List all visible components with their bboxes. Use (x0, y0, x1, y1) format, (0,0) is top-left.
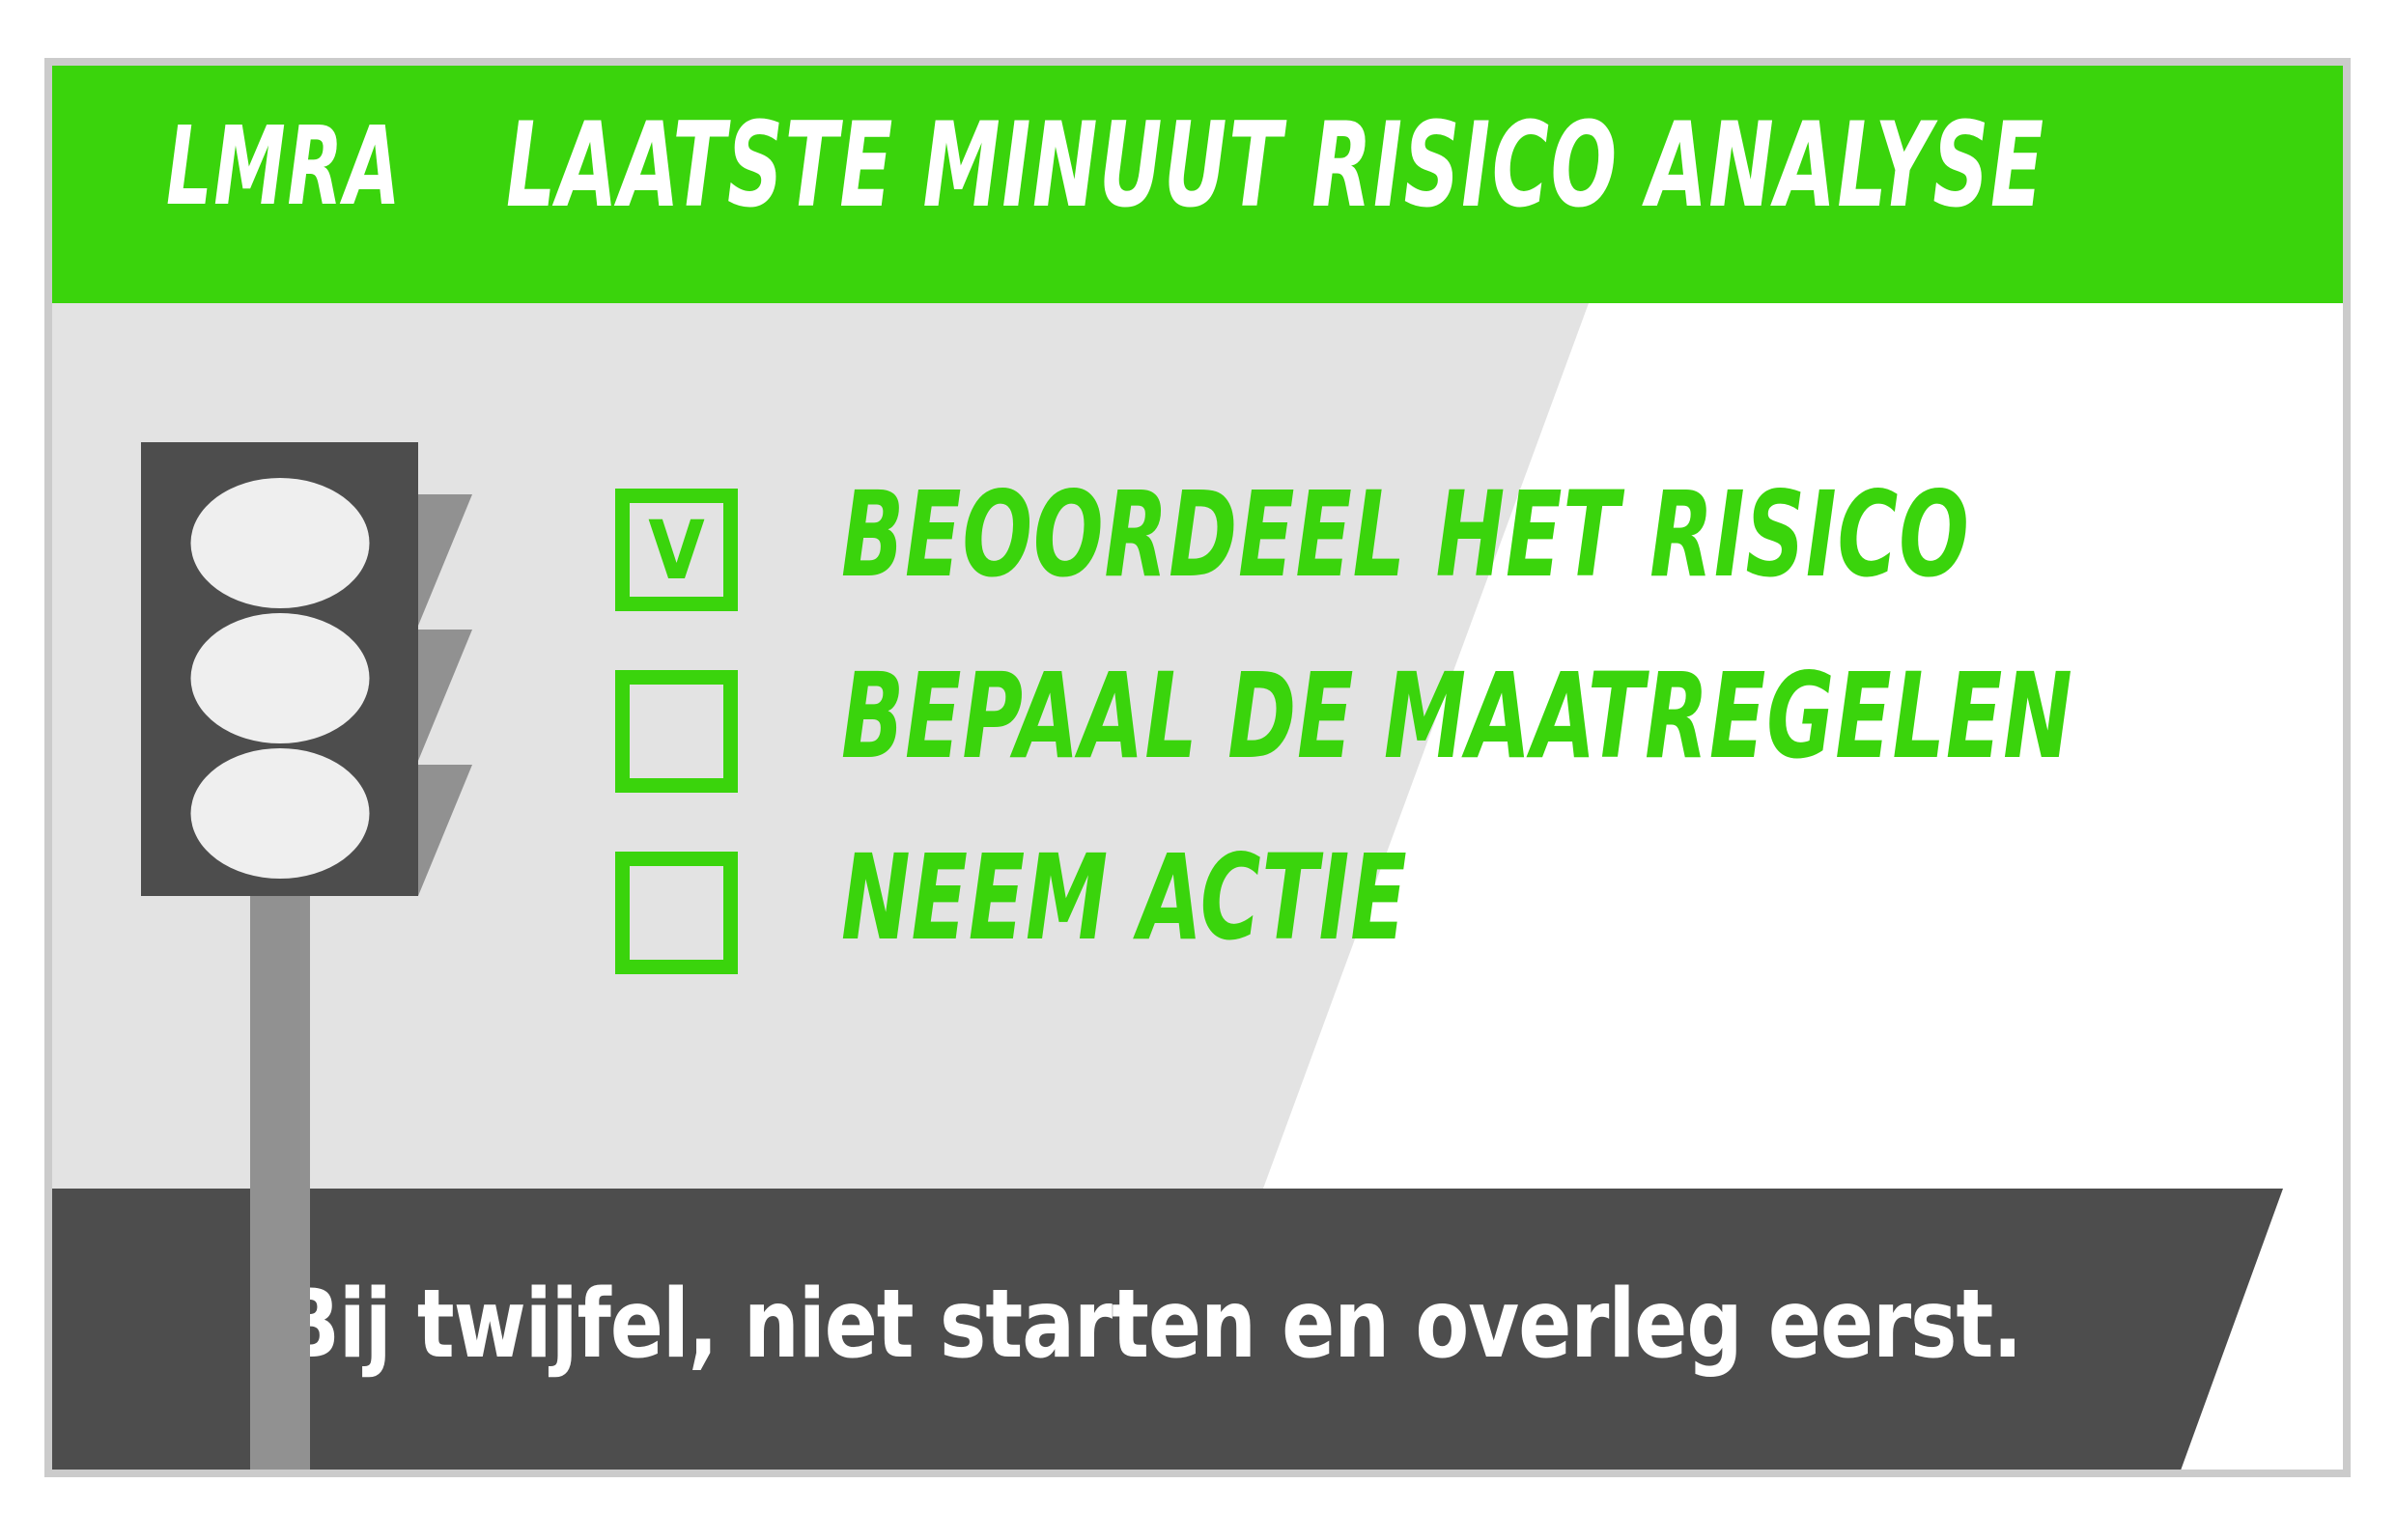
traffic-light-visor-icon (418, 630, 472, 761)
checklist-item-label: BEOORDEEL HET RISICO (841, 477, 1970, 595)
poster-body: V BEOORDEEL HET RISICO BEPAAL DE MAATREG… (52, 303, 2343, 1470)
checkmark-icon: V (630, 503, 723, 597)
page-title: LAATSTE MINUUT RISICO ANALYSE (506, 108, 2045, 225)
checklist-item-label: BEPAAL DE MAATREGELEN (841, 658, 2073, 776)
checklist-item-label: NEEM ACTIE (841, 840, 1407, 958)
traffic-light-pole (250, 896, 310, 1477)
traffic-light-visor-icon (418, 494, 472, 626)
footer-message: Bij twijfel, niet starten en overleg eer… (280, 1277, 2021, 1372)
poster-header: LMRA LAATSTE MINUUT RISICO ANALYSE (52, 66, 2343, 303)
amber-lamp-icon (190, 613, 369, 743)
green-lamp-icon (190, 748, 369, 879)
checkmark-icon (630, 685, 723, 778)
checkmark-icon (630, 866, 723, 960)
footer-banner: Bij twijfel, niet starten en overleg eer… (52, 1189, 2343, 1477)
lmra-poster-card: LMRA LAATSTE MINUUT RISICO ANALYSE V BEO (44, 58, 2351, 1477)
checkbox-neem-actie[interactable] (615, 852, 738, 974)
checkbox-beoordeel-het-risico[interactable]: V (615, 489, 738, 611)
red-lamp-icon (190, 478, 369, 608)
traffic-light-visor-icon (418, 765, 472, 896)
checkbox-bepaal-de-maatregelen[interactable] (615, 670, 738, 793)
traffic-light-housing (141, 442, 418, 896)
header-abbreviation: LMRA (166, 112, 402, 220)
